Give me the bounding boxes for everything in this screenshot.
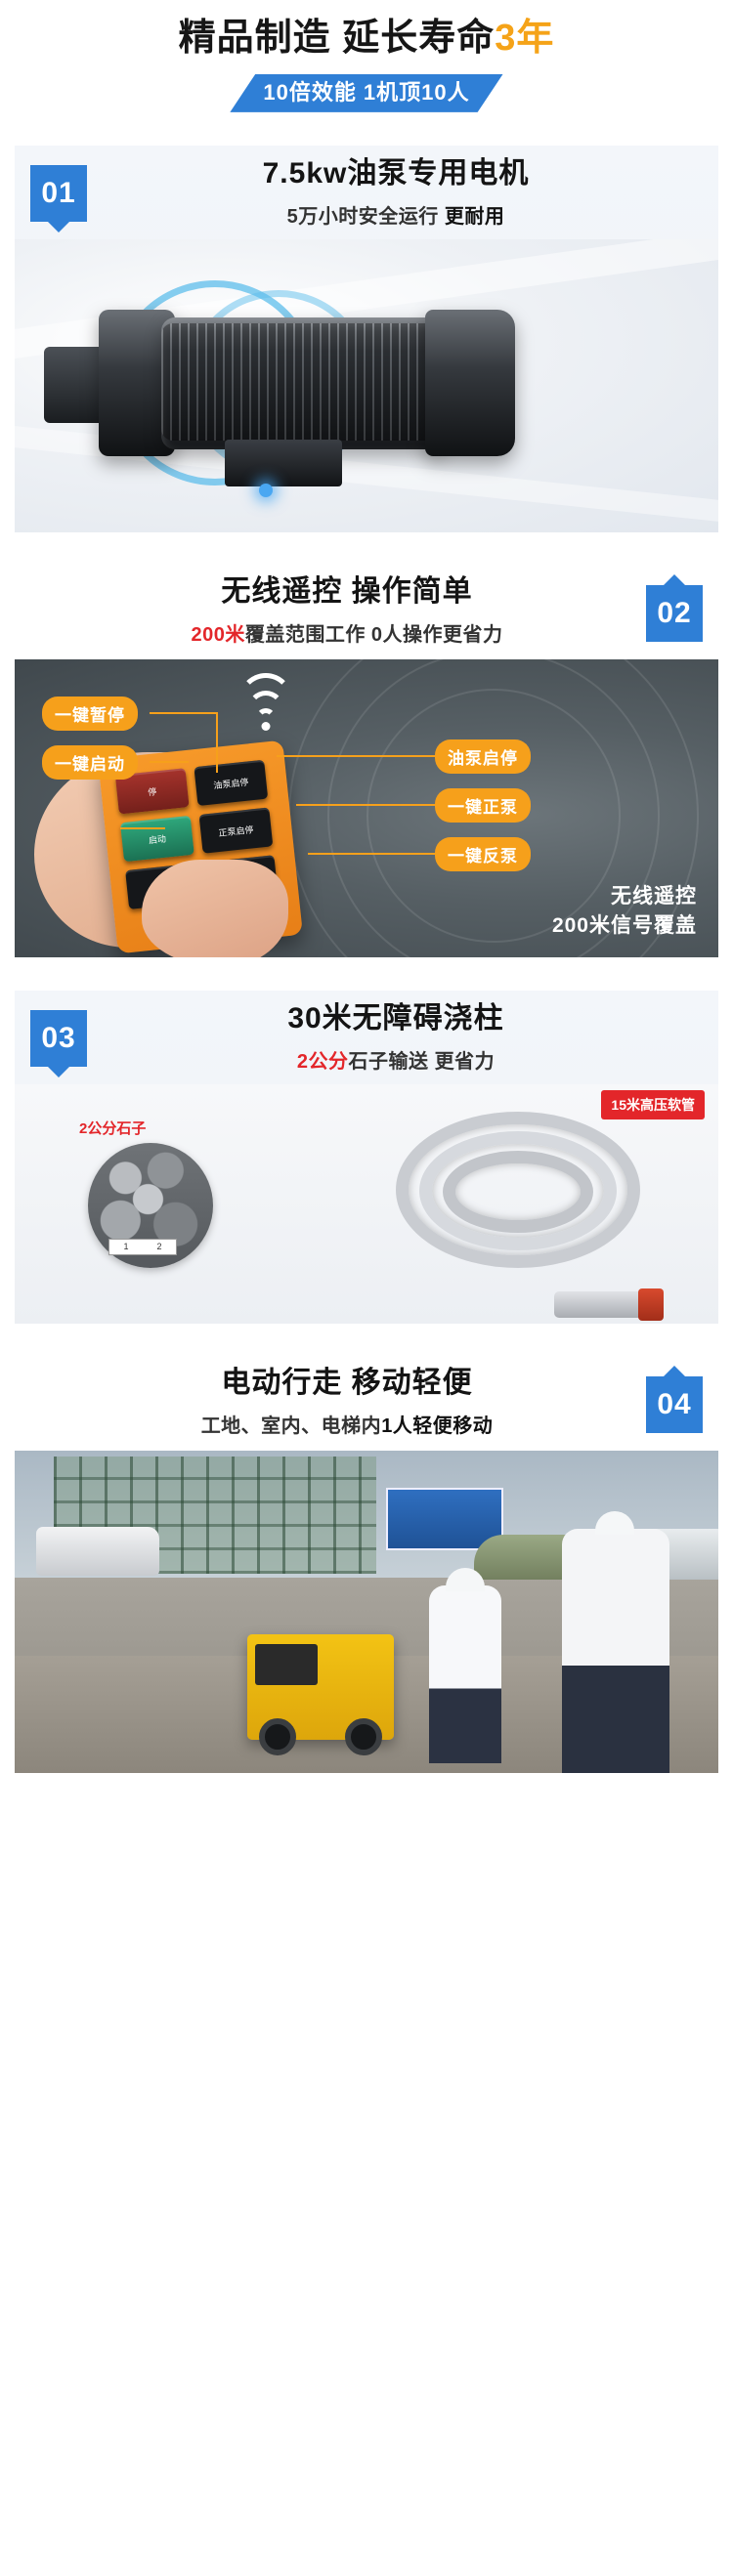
callout-leader-line <box>277 755 437 757</box>
white-van <box>36 1527 159 1576</box>
corner-caption-line2: 200米信号覆盖 <box>552 911 697 941</box>
section-01-subtitle-strong: 更耐用 <box>445 206 505 228</box>
section-03: 03 30米无障碍浇柱 2公分石子输送 更省力 15米高压软管 2公分石子 1 … <box>0 991 733 1324</box>
section-03-subtitle-red: 2公分 <box>297 1051 349 1073</box>
wifi-signal-icon <box>232 677 300 728</box>
section-04-title: 电动行走 移动轻便 <box>73 1365 621 1402</box>
section-02-subtitle: 200米覆盖范围工作 0人操作更省力 <box>73 618 621 647</box>
remote-corner-caption: 无线遥控 200米信号覆盖 <box>552 882 697 942</box>
section-02: 02 无线遥控 操作简单 200米覆盖范围工作 0人操作更省力 <box>0 566 733 957</box>
callout-start: 一键启动 <box>42 745 138 780</box>
section-02-title: 无线遥控 操作简单 <box>73 573 621 611</box>
section-03-number-badge: 03 <box>30 1010 87 1067</box>
hose-tag: 15米高压软管 <box>601 1090 705 1119</box>
section-02-number-badge: 02 <box>646 585 703 642</box>
callout-leader-line <box>150 712 218 714</box>
motor-fins <box>161 323 445 441</box>
section-04-titles: 电动行走 移动轻便 工地、室内、电梯内1人轻便移动 <box>73 1365 621 1439</box>
section-03-subtitle: 2公分石子输送 更省力 <box>122 1045 669 1074</box>
callout-leader-line <box>150 761 189 763</box>
motor-photo <box>15 239 718 532</box>
section-02-subtitle-red: 200米 <box>191 624 244 646</box>
high-pressure-hose <box>386 1102 679 1302</box>
callout-pump-toggle-label: 油泵启停 <box>435 739 531 774</box>
section-02-panel: 02 无线遥控 操作简单 200米覆盖范围工作 0人操作更省力 <box>15 566 718 957</box>
page-title-accent: 3年 <box>495 18 554 59</box>
page-title-main: 精品制造 延长寿命 <box>179 18 496 59</box>
section-04: 04 电动行走 移动轻便 工地、室内、电梯内1人轻便移动 <box>0 1357 733 1773</box>
motor-end-right <box>425 310 515 456</box>
header-banner: 10倍效能 1机顶10人 <box>230 74 502 112</box>
motor-foot <box>225 440 342 486</box>
worker-person-a <box>429 1585 501 1763</box>
machine-wheel-left <box>259 1718 296 1755</box>
spacer <box>0 532 733 566</box>
remote-button-start[interactable]: 启动 <box>120 816 194 862</box>
callout-reverse-pump: 一键反泵 <box>435 837 531 871</box>
concrete-pump-machine <box>247 1634 394 1740</box>
hose-coupling <box>554 1291 648 1318</box>
callout-start-label: 一键启动 <box>42 745 138 780</box>
section-04-subtitle: 工地、室内、电梯内1人轻便移动 <box>73 1410 621 1438</box>
motor-illustration <box>15 239 718 532</box>
ruler-mark-2: 2 <box>156 1242 161 1251</box>
page-title: 精品制造 延长寿命3年 <box>0 18 733 61</box>
callout-leader-line <box>216 712 218 773</box>
remote-button-forward-pump[interactable]: 正泵启停 <box>199 807 274 853</box>
motor-body <box>161 317 445 449</box>
ruler-mark-1: 1 <box>123 1242 128 1251</box>
section-03-subtitle-plain: 石子输送 更省力 <box>349 1051 496 1073</box>
callout-pump-toggle: 油泵启停 <box>435 739 531 774</box>
gravel-tag: 2公分石子 <box>79 1118 146 1138</box>
section-03-panel: 03 30米无障碍浇柱 2公分石子输送 更省力 15米高压软管 2公分石子 1 … <box>15 991 718 1324</box>
hand-illustration-lower <box>142 860 288 957</box>
section-04-number-badge: 04 <box>646 1376 703 1433</box>
callout-leader-line <box>308 853 437 855</box>
section-03-head: 03 30米无障碍浇柱 2公分石子输送 更省力 <box>15 991 718 1084</box>
section-01-title: 7.5kw油泵专用电机 <box>122 155 669 192</box>
machine-wheel-right <box>345 1718 382 1755</box>
section-01-titles: 7.5kw油泵专用电机 5万小时安全运行 更耐用 <box>122 155 669 230</box>
callout-forward-pump: 一键正泵 <box>435 788 531 823</box>
section-01-panel: 01 7.5kw油泵专用电机 5万小时安全运行 更耐用 <box>15 146 718 532</box>
section-01-subtitle-plain: 5万小时安全运行 <box>287 206 445 228</box>
hose-and-gravel-photo: 15米高压软管 2公分石子 1 2 <box>15 1084 718 1324</box>
header-banner-wrap: 10倍效能 1机顶10人 <box>0 74 733 112</box>
spacer <box>0 112 733 146</box>
section-04-subtitle-plain: 工地、室内、电梯内 <box>201 1415 382 1437</box>
section-01-head: 01 7.5kw油泵专用电机 5万小时安全运行 更耐用 <box>15 146 718 239</box>
spacer <box>0 1324 733 1357</box>
callout-reverse-pump-label: 一键反泵 <box>435 837 531 871</box>
section-02-subtitle-plain: 覆盖范围工作 0人操作更省力 <box>245 624 503 646</box>
callout-leader-line <box>296 804 437 806</box>
remote-control-photo: 停 油泵启停 启动 正泵启停 备用 备用 一键暂停 一键启动 <box>15 659 718 957</box>
corner-caption-line1: 无线遥控 <box>552 882 697 911</box>
section-04-head: 04 电动行走 移动轻便 工地、室内、电梯内1人轻便移动 <box>15 1357 718 1451</box>
spacer <box>0 957 733 991</box>
machine-control-box <box>255 1644 318 1685</box>
section-01-subtitle: 5万小时安全运行 更耐用 <box>122 200 669 229</box>
callout-leader-line <box>120 827 165 829</box>
ruler-scale: 1 2 <box>108 1239 177 1255</box>
section-04-subtitle-strong: 1人轻便移动 <box>381 1415 493 1437</box>
callout-pause-label: 一键暂停 <box>42 697 138 731</box>
section-03-titles: 30米无障碍浇柱 2公分石子输送 更省力 <box>122 1000 669 1075</box>
section-02-head: 02 无线遥控 操作简单 200米覆盖范围工作 0人操作更省力 <box>15 566 718 659</box>
led-indicator-icon <box>259 484 273 497</box>
callout-forward-pump-label: 一键正泵 <box>435 788 531 823</box>
remote-button-pump-start[interactable]: 油泵启停 <box>194 760 268 806</box>
page-header: 精品制造 延长寿命3年 10倍效能 1机顶10人 <box>0 0 733 112</box>
section-04-panel: 04 电动行走 移动轻便 工地、室内、电梯内1人轻便移动 <box>15 1357 718 1773</box>
callout-pause: 一键暂停 <box>42 697 138 731</box>
worker-person-b <box>562 1529 669 1773</box>
section-02-titles: 无线遥控 操作简单 200米覆盖范围工作 0人操作更省力 <box>73 573 621 648</box>
section-03-title: 30米无障碍浇柱 <box>122 1000 669 1037</box>
jobsite-photo <box>15 1451 718 1773</box>
section-01: 01 7.5kw油泵专用电机 5万小时安全运行 更耐用 <box>0 146 733 532</box>
section-01-number-badge: 01 <box>30 165 87 222</box>
